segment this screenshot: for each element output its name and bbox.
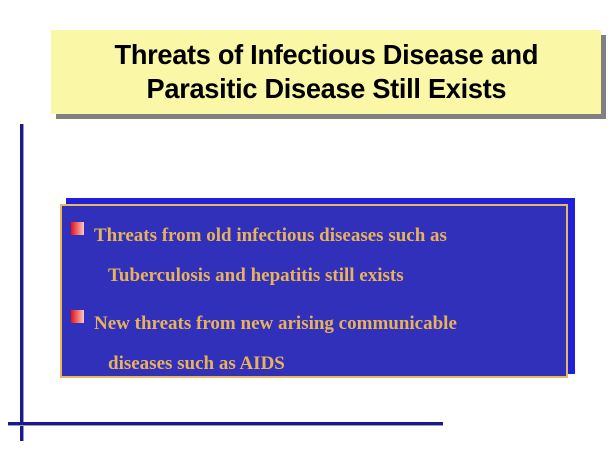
red-gradient-square-bullet-icon <box>71 222 84 235</box>
bullet-item-2-line-2: diseases such as AIDS <box>94 344 558 384</box>
bullet-item-1: Threats from old infectious diseases suc… <box>68 216 558 296</box>
bullet-item-2-line-1: New threats from new arising communicabl… <box>94 304 558 344</box>
bullet-item-2: New threats from new arising communicabl… <box>68 304 558 384</box>
vertical-navy-rule <box>20 124 23 441</box>
bullet-item-1-line-2: Tuberculosis and hepatitis still exists <box>94 256 558 296</box>
title-box: Threats of Infectious Disease and Parasi… <box>51 30 601 114</box>
page-title-line-2: Parasitic Disease Still Exists <box>146 72 506 106</box>
bullet-spacer <box>68 296 558 304</box>
presentation-slide: Threats of Infectious Disease and Parasi… <box>0 0 616 462</box>
bullet-item-1-line-1: Threats from old infectious diseases suc… <box>94 216 558 256</box>
red-gradient-square-bullet-icon <box>71 310 84 323</box>
page-title-line-1: Threats of Infectious Disease and <box>114 38 538 72</box>
content-box: Threats from old infectious diseases suc… <box>60 204 568 378</box>
horizontal-navy-rule <box>8 422 443 425</box>
